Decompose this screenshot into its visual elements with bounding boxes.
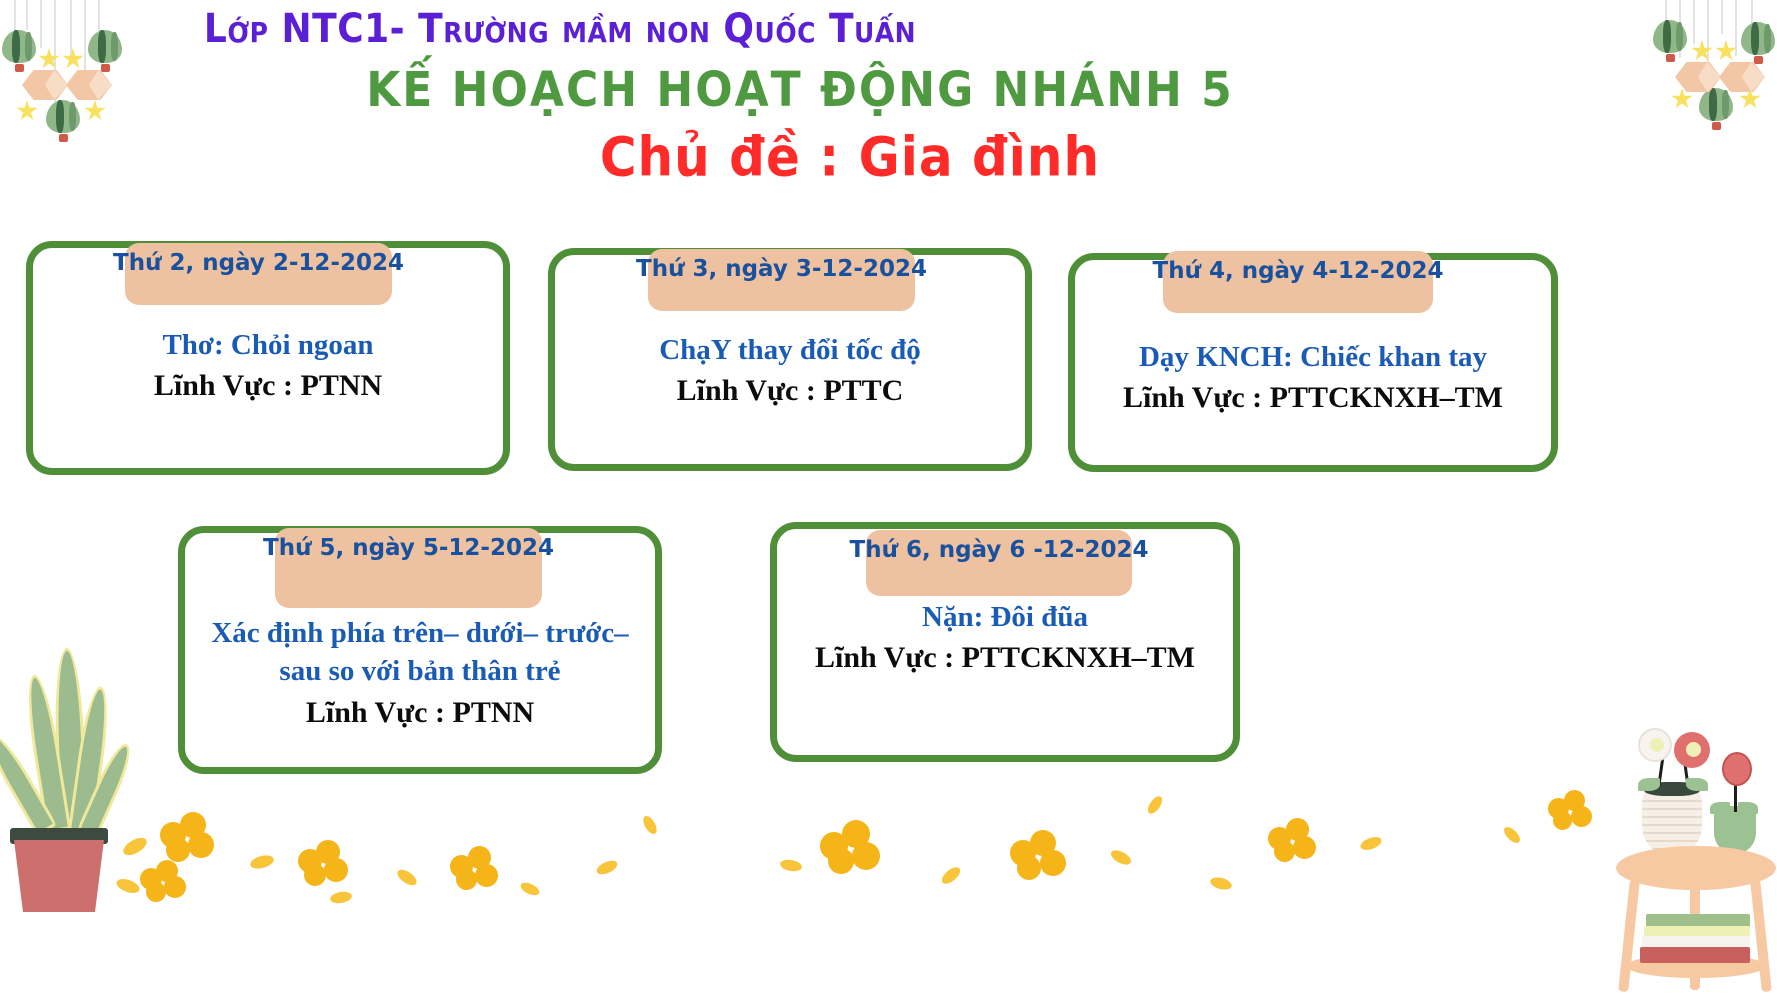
- star-icon: [1715, 40, 1737, 62]
- flower-cluster: [140, 860, 192, 906]
- card-body-friday: Nặn: Đôi đũa Lĩnh Vực : PTTCKNXH–TM: [770, 598, 1240, 677]
- activity-monday: Thơ: Chỏi ngoan: [26, 326, 510, 364]
- flower-cluster: [1548, 790, 1598, 834]
- strand: [1735, 0, 1737, 56]
- petal: [1209, 875, 1233, 891]
- petal: [519, 880, 541, 898]
- flower-cluster: [160, 812, 220, 864]
- petal: [1359, 835, 1383, 853]
- table-leg: [1750, 880, 1772, 992]
- field-wednesday: Lĩnh Vực : PTTCKNXH–TM: [1068, 378, 1558, 417]
- leaf: [1686, 778, 1708, 791]
- plan-title: KẾ HOẠCH HOẠT ĐỘNG NHÁNH 5: [0, 62, 1600, 118]
- flower-cluster: [820, 820, 886, 878]
- date-chip-thursday: Thứ 5, ngày 5-12-2024: [275, 528, 542, 608]
- activity-friday: Nặn: Đôi đũa: [770, 598, 1240, 636]
- date-chip-monday: Thứ 2, ngày 2-12-2024: [125, 243, 392, 305]
- table-leg: [1618, 880, 1640, 992]
- card-body-monday: Thơ: Chỏi ngoan Lĩnh Vực : PTNN: [26, 326, 510, 405]
- hot-air-balloon-icon: [1741, 22, 1775, 62]
- petal: [1109, 847, 1134, 867]
- field-monday: Lĩnh Vực : PTNN: [26, 366, 510, 405]
- activity-thursday-line1: Xác định phía trên– dưới– trước–: [178, 614, 662, 652]
- petal: [595, 858, 620, 877]
- leaf: [1710, 802, 1730, 814]
- activity-tuesday: ChạY thay đổi tốc độ: [548, 331, 1032, 369]
- petal: [329, 890, 353, 905]
- petal: [1145, 794, 1165, 816]
- petal: [641, 814, 660, 836]
- theme-title: Chủ đề : Gia đình: [0, 126, 1700, 189]
- petal: [395, 867, 419, 889]
- flower-head: [1722, 752, 1752, 786]
- book: [1640, 947, 1750, 963]
- petal: [249, 853, 275, 871]
- hot-air-balloon-icon: [1653, 20, 1687, 60]
- activity-thursday-line2: sau so với bản thân trẻ: [178, 652, 662, 690]
- strand: [1693, 0, 1695, 44]
- flower-cluster: [298, 840, 354, 888]
- field-thursday: Lĩnh Vực : PTNN: [178, 693, 662, 732]
- field-friday: Lĩnh Vực : PTTCKNXH–TM: [770, 638, 1240, 677]
- activity-wednesday: Dạy KNCH: Chiếc khan tay: [1068, 338, 1558, 376]
- leaf: [1738, 802, 1758, 814]
- card-body-wednesday: Dạy KNCH: Chiếc khan tay Lĩnh Vực : PTTC…: [1068, 338, 1558, 417]
- flower-center: [1686, 742, 1701, 757]
- flower-cluster: [450, 846, 504, 894]
- flower-cluster: [1268, 818, 1322, 866]
- side-table-group: [1598, 728, 1777, 1000]
- petal: [779, 858, 803, 873]
- hot-air-balloon-icon: [1699, 88, 1733, 128]
- leaf: [1638, 778, 1660, 791]
- date-chip-friday: Thứ 6, ngày 6 -12-2024: [866, 530, 1132, 596]
- flower-cluster: [1010, 830, 1072, 884]
- strand: [1751, 0, 1753, 24]
- petal: [939, 864, 963, 887]
- date-chip-wednesday: Thứ 4, ngày 4-12-2024: [1163, 251, 1433, 313]
- date-chip-tuesday: Thứ 3, ngày 3-12-2024: [648, 249, 915, 311]
- card-body-thursday: Xác định phía trên– dưới– trước– sau so …: [178, 614, 662, 732]
- petal: [1501, 824, 1522, 845]
- snake-plant: [4, 648, 134, 898]
- school-line: Lớp NTC1- Trường mầm non Quốc Tuấn: [0, 6, 1120, 52]
- slide-canvas: Lớp NTC1- Trường mầm non Quốc Tuấn KẾ HO…: [0, 0, 1777, 1000]
- field-tuesday: Lĩnh Vực : PTTC: [548, 371, 1032, 410]
- strand: [1721, 0, 1723, 34]
- flower-center: [1650, 738, 1664, 752]
- plant-pot: [14, 840, 104, 912]
- card-body-tuesday: ChạY thay đổi tốc độ Lĩnh Vực : PTTC: [548, 331, 1032, 410]
